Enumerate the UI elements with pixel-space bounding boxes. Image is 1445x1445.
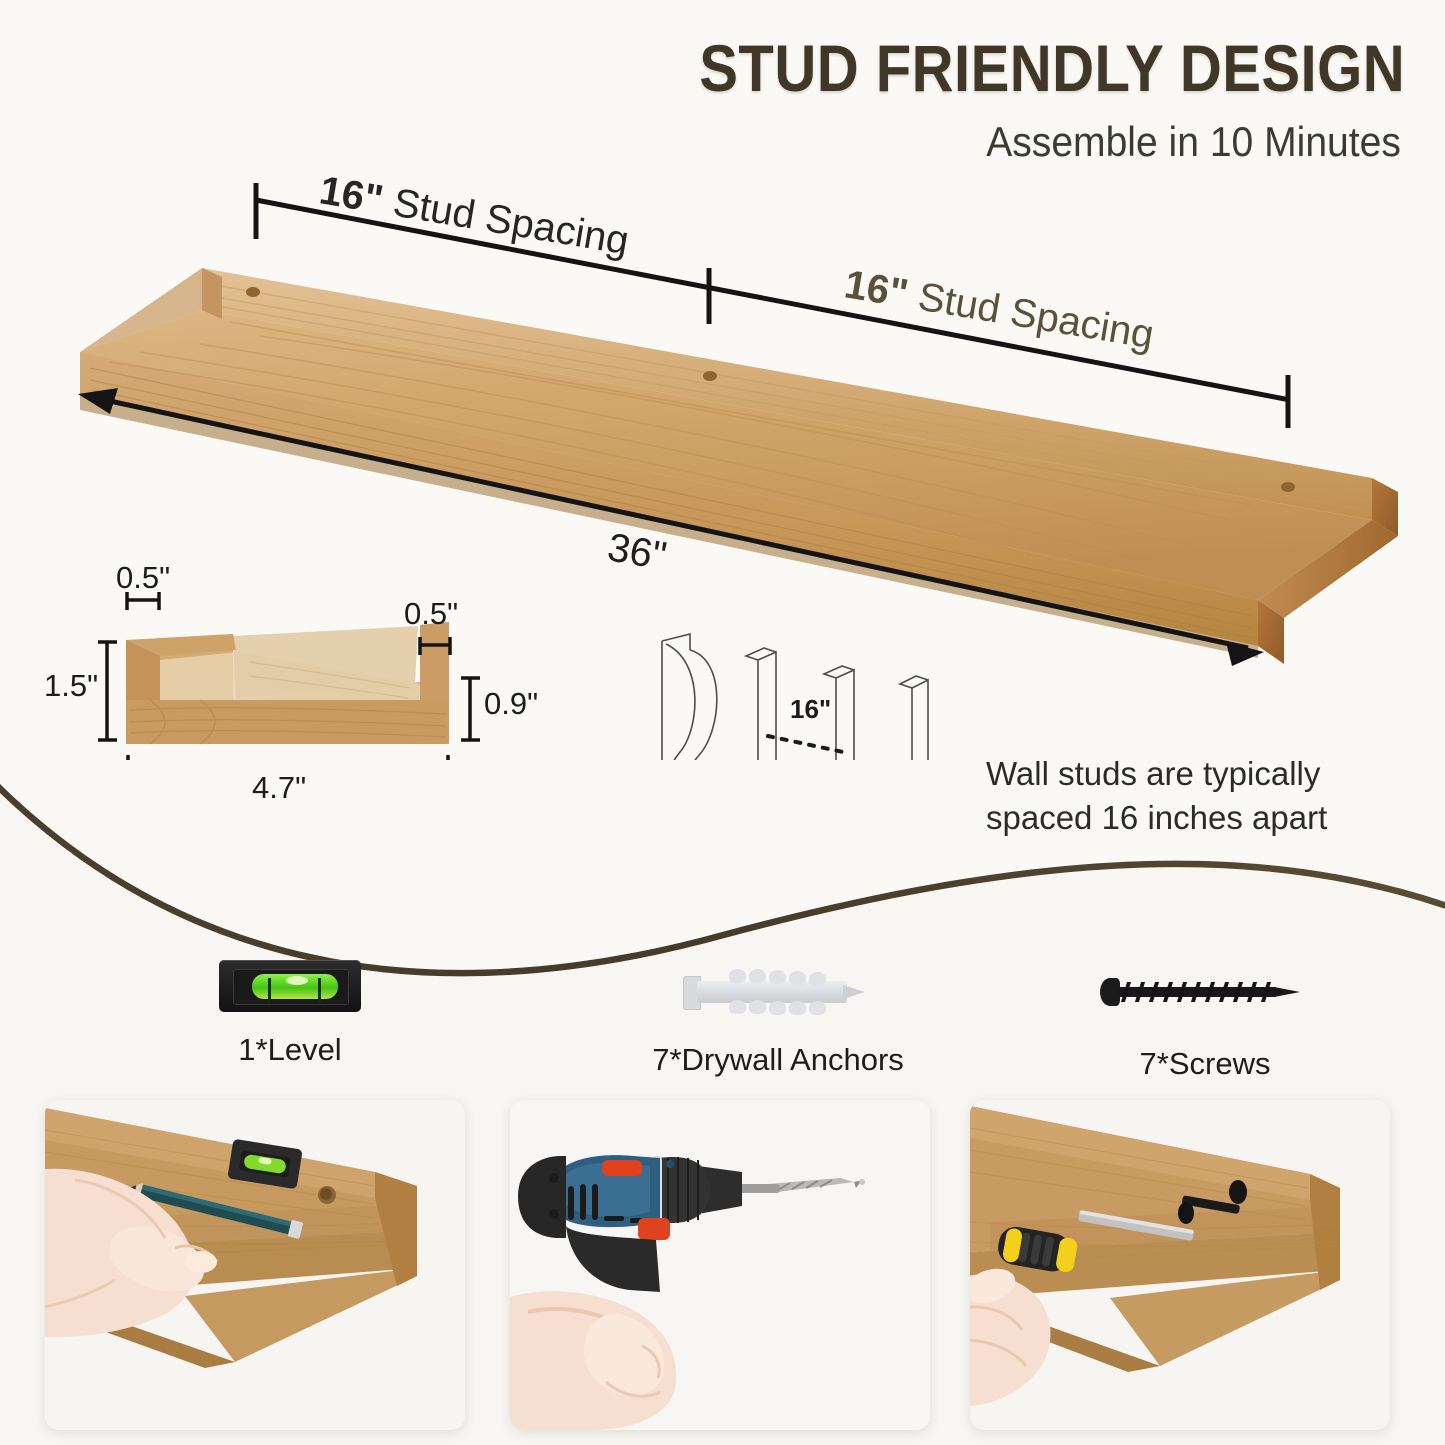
depth-label: 4.7"	[252, 770, 306, 806]
wall-studs-note-line1: Wall studs are typically	[986, 752, 1346, 796]
drywall-anchor-icon	[578, 970, 978, 1036]
wall-studs-note: Wall studs are typically spaced 16 inche…	[986, 752, 1346, 839]
hardware-label: 1*Level	[140, 1032, 440, 1068]
hardware-label: 7*Drywall Anchors	[578, 1042, 978, 1078]
step-photo-drill-holes	[510, 1100, 930, 1430]
back-height-label: 1.5"	[44, 668, 98, 704]
screw-hole	[703, 371, 717, 381]
wall-shelf-body	[80, 268, 1398, 664]
stud-spacing-left-value: 16"	[316, 168, 386, 222]
front-lip-height-label: 0.9"	[484, 686, 538, 722]
lip-front-thickness-label: 0.5"	[404, 596, 458, 632]
screw-icon	[1045, 974, 1365, 1040]
lip-back-thickness-label: 0.5"	[116, 560, 170, 596]
step-photos	[0, 1100, 1445, 1445]
stud-spacing-right-value: 16"	[841, 262, 911, 316]
stud-spacing-dotted-line	[768, 736, 843, 752]
hardware-item-anchors: 7*Drywall Anchors	[578, 960, 978, 1078]
hardware-label: 7*Screws	[1045, 1046, 1365, 1082]
infographic-root: STUD FRIENDLY DESIGN Assemble in 10 Minu…	[0, 0, 1445, 1445]
step-photo-mark-holes	[45, 1100, 465, 1430]
wall-studs-note-line2: spaced 16 inches apart	[986, 796, 1346, 840]
bubble-level-icon	[140, 960, 440, 1026]
cross-section-illustration	[126, 622, 449, 744]
screw-hole	[246, 287, 260, 297]
hardware-list: 1*Level	[0, 960, 1445, 1080]
screw-hole	[1281, 482, 1295, 492]
hardware-item-screws: 7*Screws	[1045, 960, 1365, 1082]
stud-spacing-diagram-label: 16"	[790, 694, 831, 725]
hardware-item-level: 1*Level	[140, 960, 440, 1068]
step-photo-drive-screws	[970, 1100, 1390, 1430]
